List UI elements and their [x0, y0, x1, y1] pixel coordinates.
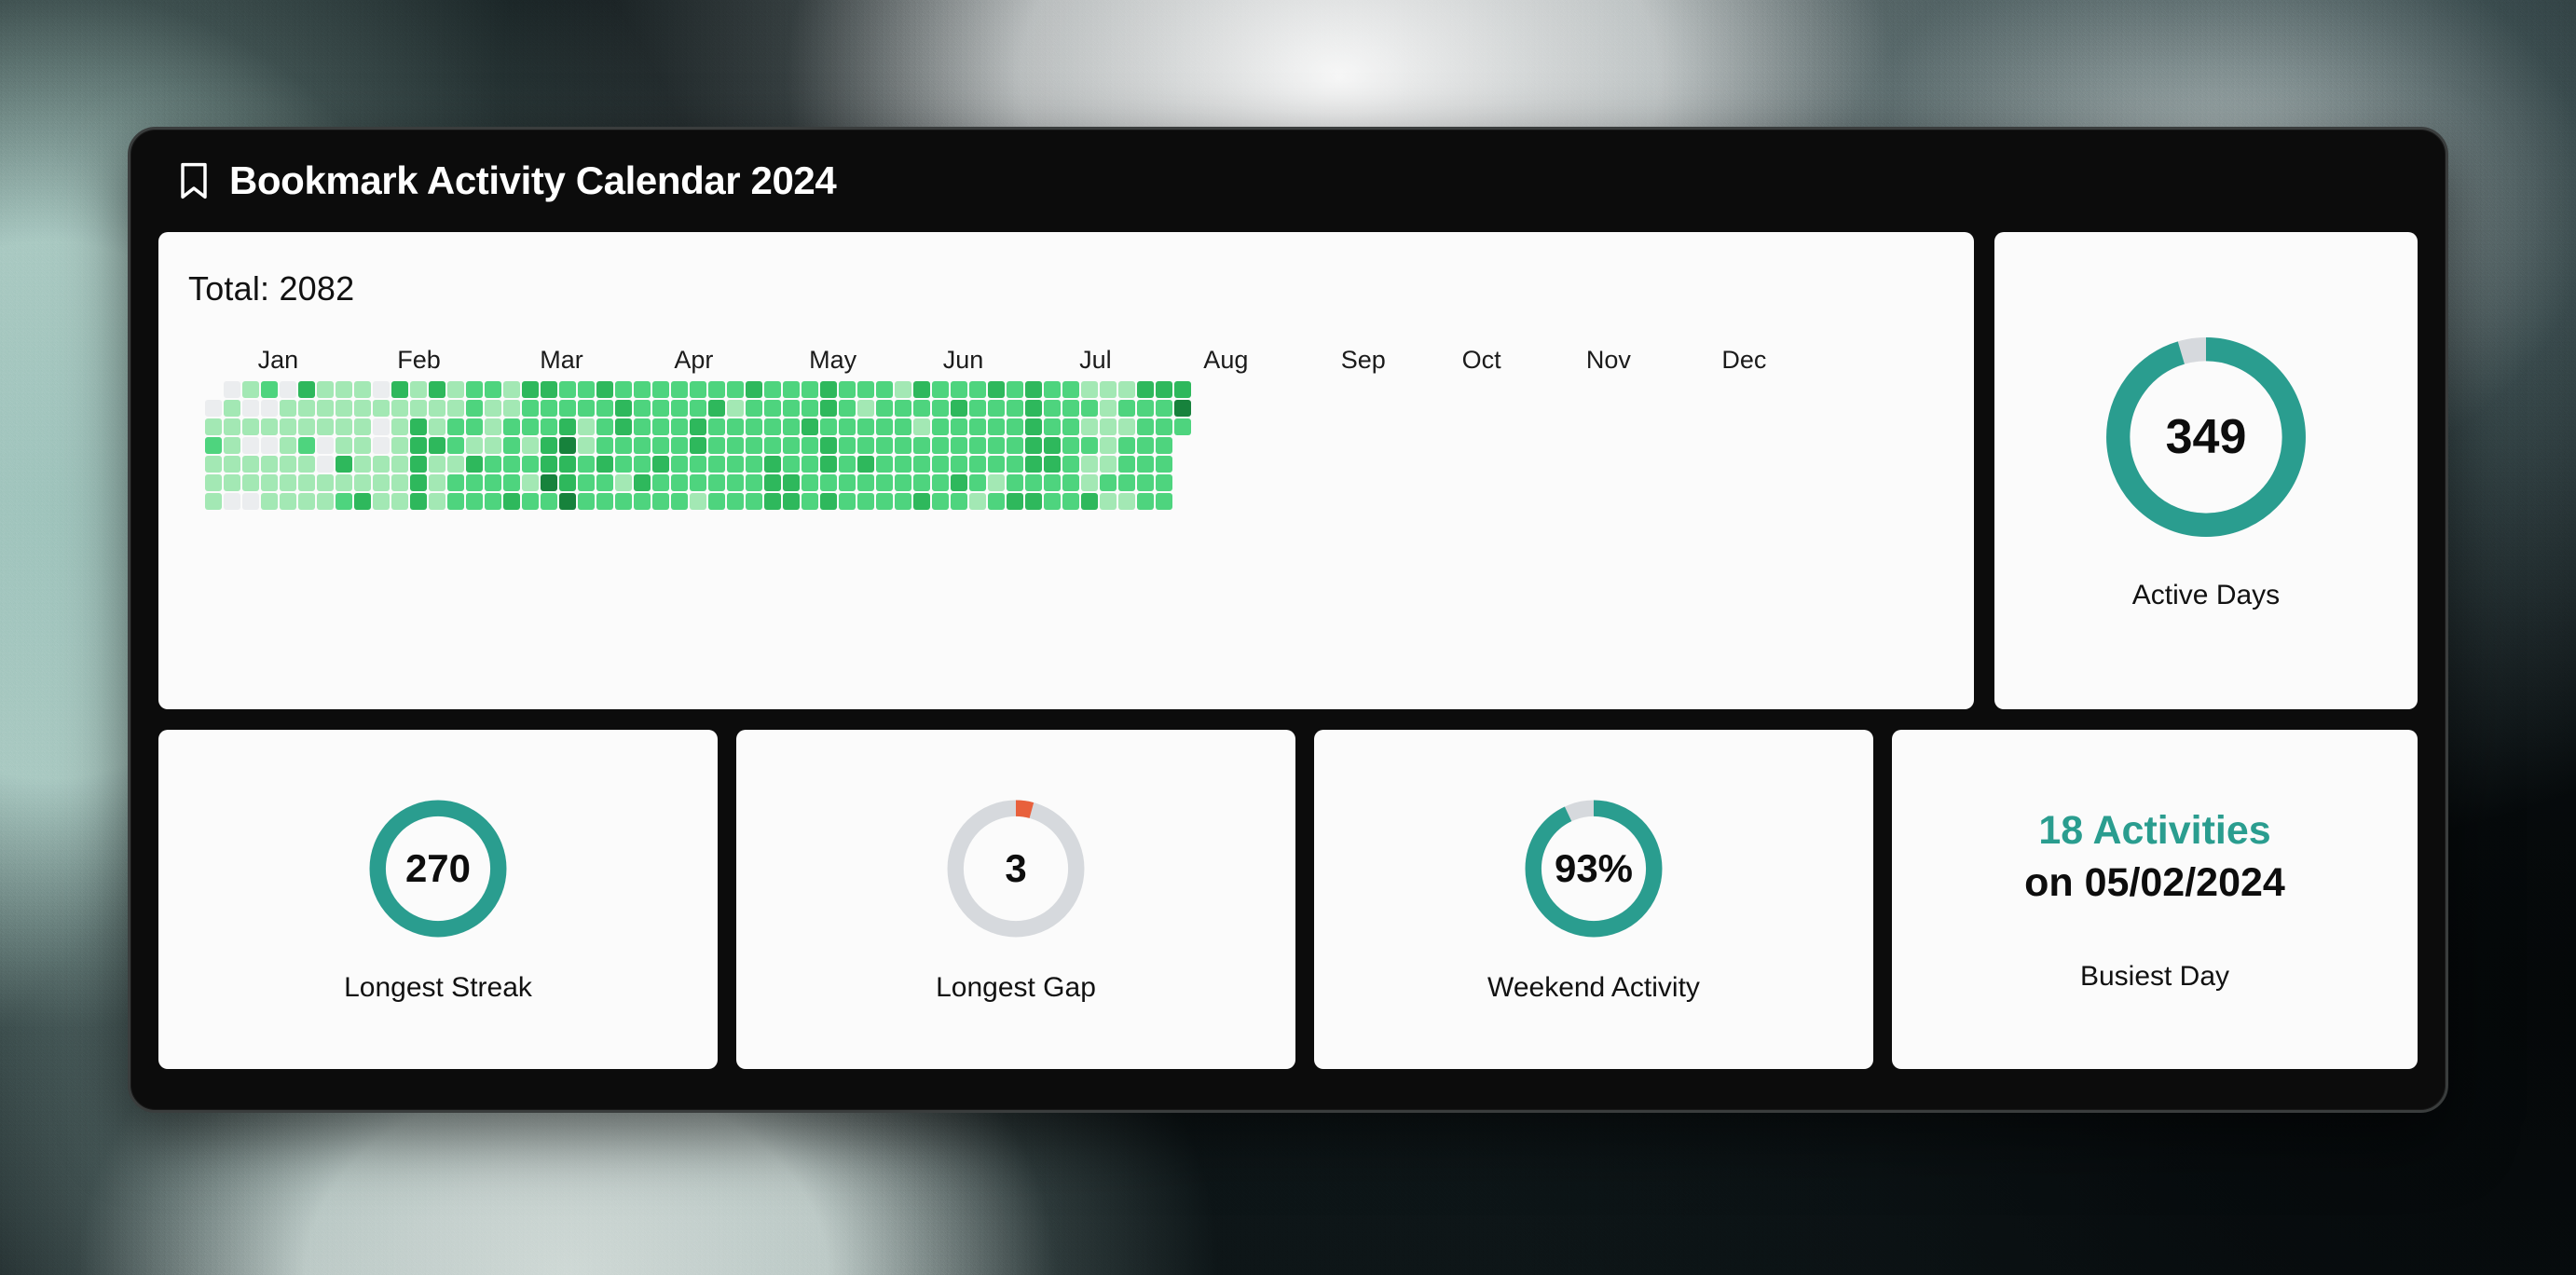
heatmap-cell[interactable]	[373, 493, 390, 510]
heatmap-cell[interactable]	[932, 381, 949, 398]
heatmap-cell[interactable]	[671, 381, 688, 398]
heatmap-cell[interactable]	[261, 474, 278, 491]
heatmap-cell[interactable]	[652, 381, 669, 398]
heatmap-cell[interactable]	[1174, 381, 1191, 398]
heatmap-cell[interactable]	[466, 493, 483, 510]
heatmap-cell[interactable]	[988, 400, 1005, 417]
heatmap-cell[interactable]	[839, 437, 856, 454]
heatmap-cell[interactable]	[429, 418, 445, 435]
heatmap-cell[interactable]	[746, 437, 762, 454]
heatmap-cell[interactable]	[391, 400, 408, 417]
heatmap-cell[interactable]	[802, 381, 818, 398]
heatmap-cell[interactable]	[1044, 437, 1061, 454]
heatmap-cell[interactable]	[727, 493, 744, 510]
heatmap-cell[interactable]	[857, 456, 874, 473]
heatmap-cell[interactable]	[820, 493, 837, 510]
heatmap-cell[interactable]	[969, 381, 986, 398]
heatmap-cell[interactable]	[224, 418, 240, 435]
heatmap-cell[interactable]	[261, 418, 278, 435]
heatmap-cell[interactable]	[224, 456, 240, 473]
heatmap-cell[interactable]	[802, 456, 818, 473]
heatmap-cell[interactable]	[224, 474, 240, 491]
heatmap-cell[interactable]	[839, 381, 856, 398]
heatmap-cell[interactable]	[876, 381, 893, 398]
heatmap-cell[interactable]	[913, 493, 930, 510]
heatmap-cell[interactable]	[932, 400, 949, 417]
heatmap-cell[interactable]	[876, 400, 893, 417]
heatmap-cell[interactable]	[1118, 437, 1135, 454]
heatmap-cell[interactable]	[764, 418, 781, 435]
heatmap-cell[interactable]	[596, 474, 613, 491]
heatmap-cell[interactable]	[783, 456, 800, 473]
heatmap-cell[interactable]	[205, 418, 222, 435]
heatmap-cell[interactable]	[485, 456, 501, 473]
heatmap-cell[interactable]	[1081, 400, 1098, 417]
heatmap-cell[interactable]	[1062, 474, 1079, 491]
heatmap-cell[interactable]	[466, 400, 483, 417]
heatmap-cell[interactable]	[1081, 381, 1098, 398]
heatmap-cell[interactable]	[354, 474, 371, 491]
heatmap-cell[interactable]	[932, 474, 949, 491]
heatmap-cell[interactable]	[988, 493, 1005, 510]
heatmap-cell[interactable]	[727, 418, 744, 435]
heatmap-cell[interactable]	[1118, 493, 1135, 510]
heatmap-cell[interactable]	[895, 456, 911, 473]
heatmap-cell[interactable]	[391, 437, 408, 454]
heatmap-cell[interactable]	[336, 418, 352, 435]
heatmap-cell[interactable]	[1100, 474, 1117, 491]
heatmap-cell[interactable]	[951, 418, 967, 435]
heatmap-cell[interactable]	[802, 437, 818, 454]
heatmap-cell[interactable]	[932, 493, 949, 510]
heatmap-cell[interactable]	[932, 437, 949, 454]
heatmap-cell[interactable]	[857, 381, 874, 398]
heatmap-cell[interactable]	[988, 418, 1005, 435]
heatmap-cell[interactable]	[913, 418, 930, 435]
heatmap-cell[interactable]	[671, 418, 688, 435]
heatmap-cell[interactable]	[317, 418, 334, 435]
heatmap-cell[interactable]	[727, 400, 744, 417]
heatmap-cell[interactable]	[578, 493, 595, 510]
heatmap-cell[interactable]	[578, 474, 595, 491]
heatmap-cell[interactable]	[764, 437, 781, 454]
heatmap-cell[interactable]	[690, 418, 706, 435]
heatmap-cell[interactable]	[466, 474, 483, 491]
heatmap-cell[interactable]	[522, 474, 539, 491]
heatmap-cell[interactable]	[652, 474, 669, 491]
heatmap-cell[interactable]	[1007, 456, 1023, 473]
heatmap-cell[interactable]	[1137, 474, 1154, 491]
heatmap-cell[interactable]	[1025, 456, 1042, 473]
heatmap-cell[interactable]	[317, 493, 334, 510]
heatmap-cell[interactable]	[596, 381, 613, 398]
heatmap-cell[interactable]	[951, 456, 967, 473]
heatmap-cell[interactable]	[1044, 456, 1061, 473]
heatmap-cell[interactable]	[373, 456, 390, 473]
heatmap-cell[interactable]	[652, 418, 669, 435]
heatmap-cell[interactable]	[764, 400, 781, 417]
heatmap-cell[interactable]	[1118, 418, 1135, 435]
heatmap-cell[interactable]	[1062, 437, 1079, 454]
heatmap-cell[interactable]	[895, 381, 911, 398]
heatmap-cell[interactable]	[1062, 493, 1079, 510]
heatmap-cell[interactable]	[541, 418, 557, 435]
heatmap-cell[interactable]	[242, 456, 259, 473]
heatmap-cell[interactable]	[224, 381, 240, 398]
heatmap-cell[interactable]	[615, 418, 632, 435]
heatmap-cell[interactable]	[559, 437, 576, 454]
heatmap-cell[interactable]	[1025, 400, 1042, 417]
heatmap-cell[interactable]	[1081, 437, 1098, 454]
heatmap-cell[interactable]	[224, 437, 240, 454]
heatmap-cell[interactable]	[429, 400, 445, 417]
heatmap-cell[interactable]	[857, 493, 874, 510]
heatmap-cell[interactable]	[447, 493, 464, 510]
heatmap-cell[interactable]	[764, 381, 781, 398]
heatmap-cell[interactable]	[447, 381, 464, 398]
heatmap-cell[interactable]	[1118, 400, 1135, 417]
heatmap-cell[interactable]	[708, 437, 725, 454]
heatmap-cell[interactable]	[1025, 381, 1042, 398]
heatmap-cell[interactable]	[578, 400, 595, 417]
heatmap-cell[interactable]	[522, 437, 539, 454]
heatmap-cell[interactable]	[261, 437, 278, 454]
heatmap-cell[interactable]	[578, 418, 595, 435]
heatmap-cell[interactable]	[410, 474, 427, 491]
heatmap-cell[interactable]	[596, 493, 613, 510]
heatmap-cell[interactable]	[913, 400, 930, 417]
heatmap-cell[interactable]	[1118, 456, 1135, 473]
heatmap-cell[interactable]	[541, 437, 557, 454]
heatmap-cell[interactable]	[708, 418, 725, 435]
heatmap-cell[interactable]	[671, 400, 688, 417]
heatmap-cell[interactable]	[280, 418, 296, 435]
heatmap-cell[interactable]	[1081, 474, 1098, 491]
heatmap-cell[interactable]	[1025, 437, 1042, 454]
heatmap-cell[interactable]	[578, 456, 595, 473]
heatmap-cell[interactable]	[503, 381, 520, 398]
heatmap-cell[interactable]	[391, 418, 408, 435]
heatmap-cell[interactable]	[205, 400, 222, 417]
heatmap-cell[interactable]	[596, 418, 613, 435]
heatmap-cell[interactable]	[1174, 400, 1191, 417]
heatmap-cell[interactable]	[429, 474, 445, 491]
heatmap-cell[interactable]	[578, 381, 595, 398]
heatmap-cell[interactable]	[746, 400, 762, 417]
heatmap-cell[interactable]	[1062, 456, 1079, 473]
heatmap-cell[interactable]	[764, 474, 781, 491]
heatmap-cell[interactable]	[1100, 456, 1117, 473]
heatmap-cell[interactable]	[652, 456, 669, 473]
heatmap-cell[interactable]	[559, 474, 576, 491]
heatmap-cell[interactable]	[1156, 437, 1172, 454]
heatmap-cell[interactable]	[466, 456, 483, 473]
heatmap-cell[interactable]	[466, 437, 483, 454]
heatmap-cell[interactable]	[485, 474, 501, 491]
heatmap-cell[interactable]	[354, 381, 371, 398]
heatmap-cell[interactable]	[242, 381, 259, 398]
heatmap-cell[interactable]	[485, 437, 501, 454]
heatmap-cell[interactable]	[1137, 418, 1154, 435]
heatmap-cell[interactable]	[317, 400, 334, 417]
heatmap-cell[interactable]	[746, 418, 762, 435]
heatmap-cell[interactable]	[1100, 418, 1117, 435]
heatmap-cell[interactable]	[1081, 493, 1098, 510]
heatmap-cell[interactable]	[690, 437, 706, 454]
heatmap-cell[interactable]	[839, 493, 856, 510]
heatmap-cell[interactable]	[242, 400, 259, 417]
heatmap-cell[interactable]	[857, 400, 874, 417]
heatmap-cell[interactable]	[615, 381, 632, 398]
heatmap-cell[interactable]	[969, 400, 986, 417]
heatmap-cell[interactable]	[988, 456, 1005, 473]
heatmap-cell[interactable]	[336, 474, 352, 491]
heatmap-cell[interactable]	[671, 474, 688, 491]
heatmap-cell[interactable]	[615, 493, 632, 510]
heatmap-cell[interactable]	[541, 474, 557, 491]
heatmap-cell[interactable]	[429, 381, 445, 398]
heatmap-cell[interactable]	[1081, 456, 1098, 473]
heatmap-cell[interactable]	[503, 474, 520, 491]
heatmap-cell[interactable]	[205, 493, 222, 510]
heatmap-cell[interactable]	[261, 400, 278, 417]
heatmap-cell[interactable]	[410, 437, 427, 454]
heatmap-cell[interactable]	[224, 400, 240, 417]
heatmap-cell[interactable]	[783, 437, 800, 454]
heatmap-cell[interactable]	[1137, 400, 1154, 417]
heatmap-cell[interactable]	[895, 474, 911, 491]
heatmap-cell[interactable]	[522, 456, 539, 473]
heatmap-cell[interactable]	[932, 456, 949, 473]
heatmap-cell[interactable]	[727, 474, 744, 491]
heatmap-cell[interactable]	[429, 456, 445, 473]
heatmap-cell[interactable]	[839, 400, 856, 417]
heatmap-cell[interactable]	[727, 381, 744, 398]
heatmap-cell[interactable]	[373, 474, 390, 491]
heatmap-cell[interactable]	[634, 437, 651, 454]
heatmap-cell[interactable]	[298, 493, 315, 510]
heatmap-cell[interactable]	[503, 400, 520, 417]
heatmap-cell[interactable]	[1156, 456, 1172, 473]
heatmap-cell[interactable]	[1044, 474, 1061, 491]
heatmap-cell[interactable]	[559, 456, 576, 473]
heatmap-cell[interactable]	[671, 493, 688, 510]
heatmap-cell[interactable]	[895, 400, 911, 417]
heatmap-cell[interactable]	[205, 456, 222, 473]
heatmap-cell[interactable]	[708, 400, 725, 417]
heatmap-cell[interactable]	[820, 456, 837, 473]
heatmap-cell[interactable]	[596, 456, 613, 473]
heatmap-cell[interactable]	[1044, 418, 1061, 435]
heatmap-cell[interactable]	[671, 437, 688, 454]
heatmap-cell[interactable]	[1007, 400, 1023, 417]
heatmap-cell[interactable]	[932, 418, 949, 435]
heatmap-cell[interactable]	[317, 381, 334, 398]
heatmap-cell[interactable]	[913, 381, 930, 398]
heatmap-cell[interactable]	[764, 493, 781, 510]
heatmap-cell[interactable]	[839, 456, 856, 473]
heatmap-cell[interactable]	[783, 400, 800, 417]
heatmap-cell[interactable]	[242, 418, 259, 435]
heatmap-cell[interactable]	[1137, 381, 1154, 398]
heatmap-cell[interactable]	[354, 437, 371, 454]
heatmap-cell[interactable]	[280, 456, 296, 473]
heatmap-cell[interactable]	[969, 437, 986, 454]
heatmap-cell[interactable]	[485, 381, 501, 398]
heatmap-cell[interactable]	[876, 418, 893, 435]
heatmap-cell[interactable]	[634, 474, 651, 491]
heatmap-cell[interactable]	[951, 381, 967, 398]
heatmap-cell[interactable]	[1025, 493, 1042, 510]
heatmap-cell[interactable]	[410, 456, 427, 473]
heatmap-cell[interactable]	[1007, 437, 1023, 454]
heatmap-cell[interactable]	[652, 493, 669, 510]
heatmap-cell[interactable]	[280, 474, 296, 491]
heatmap-cell[interactable]	[522, 400, 539, 417]
heatmap-cell[interactable]	[802, 493, 818, 510]
heatmap-cell[interactable]	[410, 493, 427, 510]
heatmap-cell[interactable]	[876, 437, 893, 454]
heatmap-cell[interactable]	[988, 437, 1005, 454]
heatmap-cell[interactable]	[280, 493, 296, 510]
heatmap-cell[interactable]	[559, 381, 576, 398]
heatmap-cell[interactable]	[857, 418, 874, 435]
heatmap-cell[interactable]	[634, 381, 651, 398]
heatmap-cell[interactable]	[354, 456, 371, 473]
heatmap-cell[interactable]	[969, 493, 986, 510]
heatmap-cell[interactable]	[336, 381, 352, 398]
heatmap-cell[interactable]	[298, 381, 315, 398]
heatmap-cell[interactable]	[969, 456, 986, 473]
heatmap-cell[interactable]	[634, 456, 651, 473]
heatmap-cell[interactable]	[690, 381, 706, 398]
heatmap-cell[interactable]	[820, 437, 837, 454]
heatmap-cell[interactable]	[429, 437, 445, 454]
heatmap-cell[interactable]	[615, 400, 632, 417]
heatmap-cell[interactable]	[447, 474, 464, 491]
heatmap-cell[interactable]	[336, 493, 352, 510]
heatmap-cell[interactable]	[895, 437, 911, 454]
heatmap-cell[interactable]	[1137, 456, 1154, 473]
heatmap-cell[interactable]	[541, 381, 557, 398]
heatmap-cell[interactable]	[447, 400, 464, 417]
heatmap-cell[interactable]	[373, 418, 390, 435]
heatmap-cell[interactable]	[298, 437, 315, 454]
heatmap-cell[interactable]	[783, 418, 800, 435]
heatmap-cell[interactable]	[708, 456, 725, 473]
heatmap-cell[interactable]	[1007, 474, 1023, 491]
heatmap-cell[interactable]	[354, 400, 371, 417]
heatmap-cell[interactable]	[820, 381, 837, 398]
heatmap-cell[interactable]	[708, 474, 725, 491]
heatmap-cell[interactable]	[690, 456, 706, 473]
heatmap-cell[interactable]	[690, 493, 706, 510]
heatmap-cell[interactable]	[820, 418, 837, 435]
heatmap-cell[interactable]	[1118, 474, 1135, 491]
heatmap-cell[interactable]	[913, 437, 930, 454]
heatmap-cell[interactable]	[280, 437, 296, 454]
heatmap-cell[interactable]	[1100, 437, 1117, 454]
heatmap-cell[interactable]	[1044, 381, 1061, 398]
heatmap-cell[interactable]	[783, 474, 800, 491]
heatmap-cell[interactable]	[1137, 437, 1154, 454]
heatmap-cell[interactable]	[727, 437, 744, 454]
heatmap-cell[interactable]	[485, 418, 501, 435]
heatmap-cell[interactable]	[373, 437, 390, 454]
heatmap-cell[interactable]	[671, 456, 688, 473]
heatmap-cell[interactable]	[746, 381, 762, 398]
heatmap-cell[interactable]	[951, 400, 967, 417]
heatmap-cell[interactable]	[261, 456, 278, 473]
heatmap-cell[interactable]	[429, 493, 445, 510]
heatmap-cell[interactable]	[466, 381, 483, 398]
heatmap-cell[interactable]	[336, 400, 352, 417]
heatmap-cell[interactable]	[596, 437, 613, 454]
heatmap-cell[interactable]	[820, 400, 837, 417]
heatmap-cell[interactable]	[485, 493, 501, 510]
heatmap-cell[interactable]	[1156, 381, 1172, 398]
heatmap-cell[interactable]	[391, 474, 408, 491]
heatmap-cell[interactable]	[578, 437, 595, 454]
heatmap-cell[interactable]	[354, 493, 371, 510]
heatmap-cell[interactable]	[466, 418, 483, 435]
heatmap-cell[interactable]	[410, 418, 427, 435]
heatmap-cell[interactable]	[913, 456, 930, 473]
heatmap-cell[interactable]	[261, 493, 278, 510]
heatmap-cell[interactable]	[634, 493, 651, 510]
heatmap-cell[interactable]	[336, 456, 352, 473]
heatmap-cell[interactable]	[410, 381, 427, 398]
heatmap-cell[interactable]	[391, 493, 408, 510]
heatmap-cell[interactable]	[522, 381, 539, 398]
heatmap-cell[interactable]	[317, 474, 334, 491]
heatmap-cell[interactable]	[280, 400, 296, 417]
heatmap-cell[interactable]	[1081, 418, 1098, 435]
heatmap-cell[interactable]	[615, 474, 632, 491]
heatmap-cell[interactable]	[708, 381, 725, 398]
heatmap-cell[interactable]	[1100, 400, 1117, 417]
heatmap-cell[interactable]	[876, 456, 893, 473]
heatmap-cell[interactable]	[205, 474, 222, 491]
heatmap-cell[interactable]	[503, 456, 520, 473]
heatmap-cell[interactable]	[503, 437, 520, 454]
heatmap-cell[interactable]	[1156, 493, 1172, 510]
heatmap-cell[interactable]	[391, 456, 408, 473]
heatmap-cell[interactable]	[541, 400, 557, 417]
heatmap-cell[interactable]	[1174, 418, 1191, 435]
heatmap-cell[interactable]	[951, 474, 967, 491]
heatmap-cell[interactable]	[1100, 381, 1117, 398]
heatmap-cell[interactable]	[298, 400, 315, 417]
heatmap-cell[interactable]	[857, 437, 874, 454]
heatmap-cell[interactable]	[1062, 418, 1079, 435]
heatmap-cell[interactable]	[988, 381, 1005, 398]
heatmap-cell[interactable]	[541, 456, 557, 473]
heatmap-cell[interactable]	[820, 474, 837, 491]
heatmap-cell[interactable]	[634, 400, 651, 417]
heatmap-cell[interactable]	[447, 437, 464, 454]
heatmap-cell[interactable]	[783, 381, 800, 398]
heatmap-cell[interactable]	[652, 400, 669, 417]
heatmap-cell[interactable]	[596, 400, 613, 417]
heatmap-cell[interactable]	[802, 474, 818, 491]
heatmap-cell[interactable]	[802, 418, 818, 435]
heatmap-cell[interactable]	[1137, 493, 1154, 510]
heatmap-cell[interactable]	[951, 437, 967, 454]
heatmap-cell[interactable]	[1062, 400, 1079, 417]
heatmap-cell[interactable]	[690, 400, 706, 417]
heatmap-cell[interactable]	[1044, 400, 1061, 417]
